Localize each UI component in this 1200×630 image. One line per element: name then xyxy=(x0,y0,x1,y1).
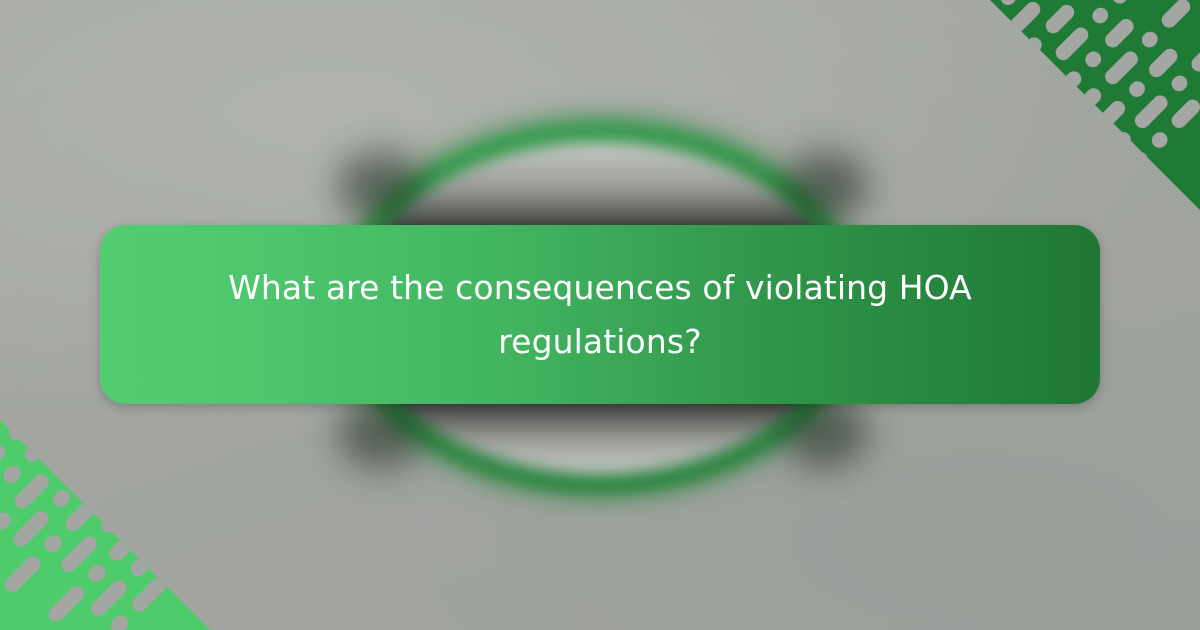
poster-canvas: What are the consequences of violating H… xyxy=(0,0,1200,630)
question-title: What are the consequences of violating H… xyxy=(190,261,1010,368)
ellipse-blotch-bottom-right xyxy=(782,398,868,468)
question-banner: What are the consequences of violating H… xyxy=(100,225,1100,404)
